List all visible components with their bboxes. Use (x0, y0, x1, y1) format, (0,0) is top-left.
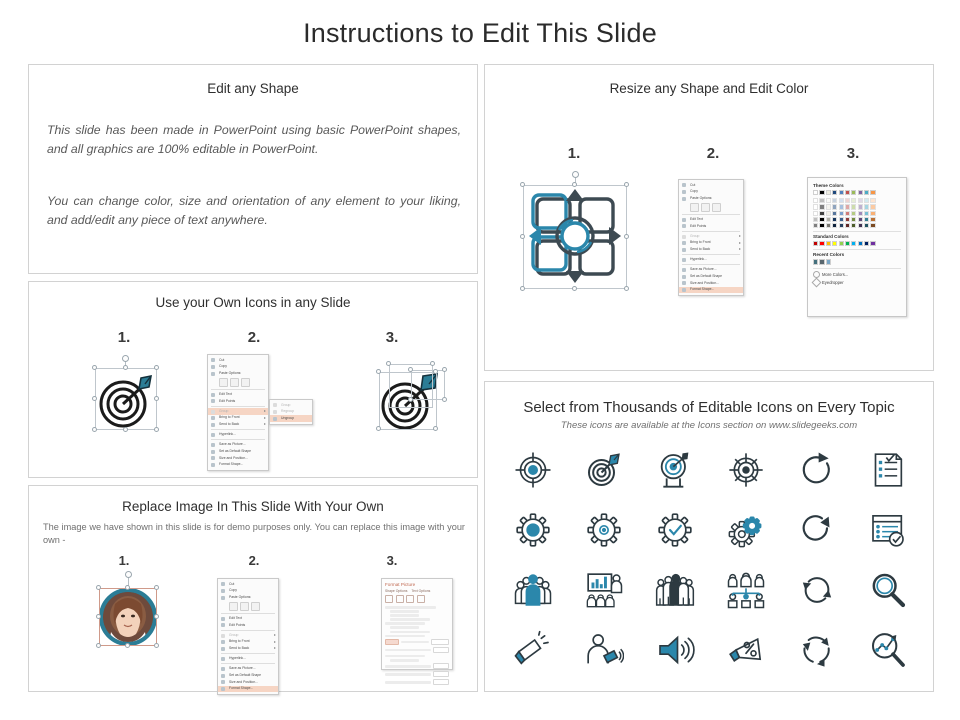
menu-separator (682, 264, 740, 265)
menu-item-icon (221, 617, 225, 621)
pane-input[interactable] (431, 639, 449, 645)
format-picture-title: Format Picture (385, 582, 449, 587)
menu-separator (211, 439, 265, 440)
context-menu-item[interactable]: Edit Points (208, 398, 268, 405)
paste-text-button[interactable] (241, 378, 250, 387)
menu-item-icon (221, 674, 225, 678)
portrait-photo-selected-art[interactable] (85, 576, 171, 676)
color-swatch[interactable] (858, 241, 863, 246)
color-swatch[interactable] (819, 190, 824, 195)
context-menu-item[interactable]: Group (218, 632, 278, 639)
context-submenu-item[interactable]: Ungroup (270, 415, 312, 422)
checklist-document-icon[interactable] (866, 448, 910, 492)
chevron-right-icon (264, 423, 266, 425)
chevron-right-icon (274, 634, 276, 636)
color-swatch[interactable] (864, 217, 869, 222)
color-swatch[interactable] (858, 223, 863, 228)
pane-control-row[interactable] (385, 663, 449, 669)
team-structure-icon[interactable] (724, 568, 768, 612)
menu-item-label: Send to Back (229, 647, 249, 650)
color-swatch[interactable] (832, 198, 837, 203)
color-swatch[interactable] (819, 211, 824, 216)
color-swatch[interactable] (851, 198, 856, 203)
context-menu-item[interactable]: Cut (218, 581, 278, 588)
menu-item-label: Edit Text (219, 393, 232, 396)
pane-label (385, 649, 431, 652)
color-swatch[interactable] (813, 259, 818, 264)
divider (813, 231, 901, 232)
menu-item-icon (682, 288, 686, 292)
color-swatch[interactable] (864, 198, 869, 203)
menu-item-label: Ungroup (281, 417, 294, 420)
pane-input[interactable] (433, 647, 449, 653)
target-icon-ungrouped-art[interactable] (367, 360, 453, 442)
color-swatch[interactable] (870, 190, 875, 195)
more-colors-button[interactable]: More Colors... (813, 271, 901, 278)
pane-input[interactable] (433, 663, 449, 669)
paste-keep-formatting-button[interactable] (229, 602, 238, 611)
color-swatch[interactable] (839, 241, 844, 246)
menu-item-label: Cut (219, 359, 224, 362)
own-icons-step-3: 3. (372, 329, 412, 346)
megaphone-icon[interactable] (511, 628, 555, 672)
color-swatch[interactable] (819, 204, 824, 209)
color-swatch[interactable] (813, 223, 818, 228)
color-swatch[interactable] (839, 190, 844, 195)
pane-row (390, 626, 419, 629)
checklist-approved-icon[interactable] (866, 508, 910, 552)
menu-item-icon (273, 410, 277, 414)
pane-row (385, 655, 425, 658)
context-submenu-item[interactable]: Group (270, 402, 312, 409)
color-swatch[interactable] (858, 204, 863, 209)
context-menu-item[interactable]: Save as Picture... (679, 267, 743, 274)
format-picture-pane[interactable]: Format PictureShape OptionsText Options (381, 578, 453, 670)
color-swatch[interactable] (870, 217, 875, 222)
color-swatch[interactable] (819, 217, 824, 222)
context-menu-item[interactable]: Bring to Front (208, 415, 268, 422)
color-swatch[interactable] (819, 259, 824, 264)
menu-item-label: Send to Back (690, 248, 710, 251)
pane-row (385, 622, 425, 625)
format-picture-tab[interactable]: Text Options (411, 589, 430, 593)
menu-item-label: Format Shape... (219, 463, 243, 466)
chevron-right-icon (264, 417, 266, 419)
color-swatch[interactable] (832, 190, 837, 195)
pane-label (385, 681, 431, 684)
color-swatch[interactable] (839, 217, 844, 222)
menu-item-label: Set as Default Shape (219, 450, 251, 453)
context-menu-item[interactable]: Format Shape... (208, 462, 268, 469)
menu-item-icon (211, 423, 215, 427)
paste-keep-formatting-button[interactable] (219, 378, 228, 387)
target-dart-icon[interactable] (582, 448, 626, 492)
picture-icon[interactable] (417, 595, 425, 603)
refresh-circle-arrow-icon[interactable] (795, 508, 839, 552)
color-swatch[interactable] (819, 223, 824, 228)
panel-use-own-icons: Use your Own Icons in any Slide 1. 2. 3. (28, 281, 478, 478)
context-menu-item[interactable]: Size and Position... (208, 455, 268, 462)
color-swatch[interactable] (826, 211, 831, 216)
color-swatch[interactable] (870, 211, 875, 216)
slide-canvas: Instructions to Edit This Slide Edit any… (0, 0, 960, 720)
color-swatch[interactable] (839, 198, 844, 203)
context-menu-item[interactable]: Hyperlink... (679, 257, 743, 264)
menu-item-icon (211, 399, 215, 403)
divider (813, 268, 901, 269)
menu-separator (211, 406, 265, 407)
pane-row (385, 635, 425, 638)
color-swatch[interactable] (813, 198, 818, 203)
context-menu-item[interactable]: Cut (679, 182, 743, 189)
context-menu-item[interactable]: Edit Text (679, 216, 743, 223)
panel-title-resize-shape: Resize any Shape and Edit Color (485, 81, 933, 96)
color-swatch[interactable] (851, 217, 856, 222)
context-menu-item[interactable]: Format Shape... (679, 287, 743, 294)
size-properties-icon[interactable] (406, 595, 414, 603)
menu-item-icon (211, 456, 215, 460)
color-swatch[interactable] (832, 217, 837, 222)
panel-subtitle-icon-library: These icons are available at the Icons s… (485, 420, 933, 431)
more-colors-label: More Colors... (822, 272, 848, 277)
color-swatch[interactable] (851, 241, 856, 246)
color-swatch[interactable] (851, 190, 856, 195)
gear-small-center-icon[interactable] (582, 508, 626, 552)
standard-colors-heading: Standard Colors (813, 234, 901, 239)
color-swatch[interactable] (819, 241, 824, 246)
color-swatch[interactable] (826, 217, 831, 222)
color-swatch[interactable] (813, 190, 818, 195)
menu-item-label: Edit Text (229, 617, 242, 620)
color-palette-panel[interactable]: Theme ColorsStandard ColorsRecent Colors… (807, 177, 907, 317)
menu-separator (221, 663, 275, 664)
chevron-right-icon (739, 242, 741, 244)
pane-control-row[interactable] (385, 679, 449, 685)
format-picture-icon-row[interactable] (385, 595, 449, 603)
context-menu-format-shape[interactable]: CutCopyPaste Options:Edit TextEdit Point… (217, 578, 279, 695)
menu-item-label: Format Shape... (690, 288, 714, 291)
paste-options-bar[interactable] (679, 202, 743, 213)
color-swatch[interactable] (851, 204, 856, 209)
color-swatch[interactable] (826, 204, 831, 209)
menu-item-label: Bring to Front (229, 640, 250, 643)
color-swatch[interactable] (845, 217, 850, 222)
color-swatch[interactable] (826, 198, 831, 203)
context-submenu-item[interactable]: Regroup (270, 409, 312, 416)
context-menu-item[interactable]: Set as Default Shape (218, 672, 278, 679)
crosshair-scope-icon[interactable] (724, 448, 768, 492)
menu-item-icon (273, 417, 277, 421)
menu-item-label: Edit Points (229, 624, 245, 627)
menu-item-label: Hyperlink... (219, 433, 236, 436)
replace-image-step-1: 1. (104, 553, 144, 568)
color-swatch[interactable] (813, 211, 818, 216)
color-swatch[interactable] (864, 190, 869, 195)
megaphone-discount-icon[interactable] (724, 628, 768, 672)
context-menu-item[interactable]: Group (208, 408, 268, 415)
color-picker-button[interactable] (385, 639, 399, 645)
menu-item-icon (682, 218, 686, 222)
resize-shape-step-3: 3. (833, 145, 873, 162)
own-icons-step-2: 2. (234, 329, 274, 346)
menu-item-label: Group (281, 404, 290, 407)
replace-image-step-3: 3. (372, 553, 412, 568)
color-swatch[interactable] (870, 241, 875, 246)
menu-item-label: Paste Options: (690, 197, 712, 200)
person-megaphone-icon[interactable] (582, 628, 626, 672)
color-swatch[interactable] (858, 190, 863, 195)
context-menu-item[interactable]: Save as Picture... (208, 442, 268, 449)
menu-item-icon (682, 248, 686, 252)
context-menu-item[interactable]: Send to Back (218, 645, 278, 652)
magnifier-icon[interactable] (866, 568, 910, 612)
color-swatch[interactable] (839, 223, 844, 228)
menu-item-icon (682, 241, 686, 245)
menu-separator (211, 429, 265, 430)
color-swatch[interactable] (819, 198, 824, 203)
color-swatch[interactable] (870, 198, 875, 203)
eyedropper-icon (812, 277, 822, 287)
pane-control-row[interactable] (385, 647, 449, 653)
paste-options-bar[interactable] (218, 601, 278, 612)
color-swatch[interactable] (864, 204, 869, 209)
menu-item-label: Save as Picture... (690, 268, 717, 271)
menu-separator (682, 214, 740, 215)
context-menu-item[interactable]: Edit Text (218, 615, 278, 622)
pane-control-row[interactable] (385, 671, 449, 677)
replace-image-subtitle: The image we have shown in this slide is… (43, 521, 465, 547)
context-menu-item[interactable]: Copy (208, 364, 268, 371)
color-swatch[interactable] (826, 259, 831, 264)
context-menu-item[interactable]: Edit Text (208, 391, 268, 398)
context-menu-item[interactable]: Paste Options: (218, 594, 278, 601)
panel-replace-image: Replace Image In This Slide With Your Ow… (28, 485, 478, 692)
menu-item-icon (682, 190, 686, 194)
context-menu-item[interactable]: Copy (218, 588, 278, 595)
edit-shape-paragraph-2: You can change color, size and orientati… (47, 192, 461, 230)
context-menu-item[interactable]: Save as Picture... (218, 666, 278, 673)
color-swatch[interactable] (858, 217, 863, 222)
color-swatch[interactable] (845, 241, 850, 246)
context-menu-item[interactable]: Size and Position... (218, 679, 278, 686)
menu-separator (221, 613, 275, 614)
color-swatch[interactable] (813, 217, 818, 222)
context-menu-item[interactable]: Bring to Front (679, 240, 743, 247)
menu-item-icon (211, 358, 215, 362)
context-menu-item[interactable]: Paste Options: (679, 195, 743, 202)
context-menu-item[interactable]: Size and Position... (679, 280, 743, 287)
color-swatch[interactable] (832, 223, 837, 228)
color-swatch[interactable] (813, 241, 818, 246)
gear-check-icon[interactable] (653, 508, 697, 552)
standard-colors-row[interactable] (813, 241, 901, 246)
color-swatch[interactable] (870, 204, 875, 209)
menu-item-label: Edit Text (690, 218, 703, 221)
color-swatch[interactable] (839, 211, 844, 216)
color-swatch[interactable] (851, 223, 856, 228)
context-menu-item[interactable]: Copy (679, 189, 743, 196)
fill-line-icon[interactable] (385, 595, 393, 603)
paste-text-button[interactable] (251, 602, 260, 611)
color-swatch[interactable] (826, 190, 831, 195)
menu-item-label: Size and Position... (229, 681, 258, 684)
chevron-right-icon (739, 235, 741, 237)
four-quadrant-shape-selected-art[interactable] (515, 175, 635, 295)
pane-control-row[interactable] (385, 639, 449, 645)
chevron-right-icon (274, 641, 276, 643)
paste-picture-button[interactable] (230, 378, 239, 387)
color-swatch[interactable] (832, 204, 837, 209)
context-menu-item[interactable]: Group (679, 233, 743, 240)
pane-input[interactable] (433, 671, 449, 677)
team-group-icon[interactable] (511, 568, 555, 612)
color-swatch[interactable] (845, 204, 850, 209)
color-swatch[interactable] (826, 223, 831, 228)
menu-item-icon (221, 634, 225, 638)
paste-picture-button[interactable] (240, 602, 249, 611)
eyedropper-label: Eyedropper (822, 280, 844, 285)
menu-item-label: Copy (690, 190, 698, 193)
pane-row (390, 659, 419, 662)
chevron-right-icon (274, 647, 276, 649)
menu-item-icon (211, 433, 215, 437)
sync-two-arrows-icon[interactable] (795, 568, 839, 612)
color-swatch[interactable] (864, 223, 869, 228)
context-menu-item[interactable]: Set as Default Shape (208, 448, 268, 455)
color-swatch[interactable] (845, 211, 850, 216)
context-menu-item[interactable]: Edit Points (679, 223, 743, 230)
paste-options-bar[interactable] (208, 377, 268, 388)
pane-row (385, 606, 436, 609)
menu-separator (221, 653, 275, 654)
menu-item-icon (273, 403, 277, 407)
menu-item-label: Edit Points (690, 225, 706, 228)
menu-item-label: Save as Picture... (219, 443, 246, 446)
paste-picture-button[interactable] (701, 203, 710, 212)
context-menu-format-shape-resize[interactable]: CutCopyPaste Options:Edit TextEdit Point… (678, 179, 744, 296)
color-swatch[interactable] (864, 211, 869, 216)
paste-keep-formatting-button[interactable] (690, 203, 699, 212)
menu-item-icon (682, 268, 686, 272)
color-swatch[interactable] (851, 211, 856, 216)
context-menu-item[interactable]: Edit Points (218, 622, 278, 629)
presentation-audience-icon[interactable] (582, 568, 626, 612)
context-menu-item[interactable]: Set as Default Shape (679, 273, 743, 280)
context-menu-item[interactable]: Send to Back (208, 421, 268, 428)
menu-item-icon (211, 463, 215, 467)
double-gear-icon[interactable] (724, 508, 768, 552)
menu-item-label: Cut (229, 583, 234, 586)
menu-item-icon (221, 647, 225, 651)
pane-row (390, 618, 430, 621)
panel-title-own-icons: Use your Own Icons in any Slide (29, 295, 477, 310)
menu-item-label: Format Shape... (229, 687, 253, 690)
target-crosshair-filled-icon[interactable] (511, 448, 555, 492)
menu-item-icon (211, 443, 215, 447)
recent-colors-row[interactable] (813, 259, 901, 264)
context-menu-ungroup[interactable]: CutCopyPaste Options:Edit TextEdit Point… (207, 354, 269, 471)
effects-icon[interactable] (396, 595, 404, 603)
color-swatch[interactable] (870, 223, 875, 228)
panel-resize-shape-edit-color: Resize any Shape and Edit Color 1. 2. 3. (484, 64, 934, 371)
menu-item-icon (221, 589, 225, 593)
menu-item-icon (682, 258, 686, 262)
color-swatch[interactable] (845, 190, 850, 195)
theme-shade-row[interactable] (813, 204, 901, 209)
menu-item-icon (221, 680, 225, 684)
menu-separator (221, 630, 275, 631)
target-stand-dart-icon[interactable] (653, 448, 697, 492)
menu-item-label: Group (229, 634, 238, 637)
context-menu-item[interactable]: Hyperlink... (208, 432, 268, 439)
context-menu-item[interactable]: Format Shape... (218, 686, 278, 693)
theme-colors-row[interactable] (813, 190, 901, 195)
theme-shade-row[interactable] (813, 211, 901, 216)
context-submenu-group[interactable]: GroupRegroupUngroup (269, 399, 313, 425)
panel-edit-any-shape: Edit any Shape This slide has been made … (28, 64, 478, 274)
pane-label (401, 641, 429, 644)
context-menu-item[interactable]: Paste Options: (208, 370, 268, 377)
color-swatch[interactable] (832, 211, 837, 216)
menu-item-icon (221, 623, 225, 627)
gear-filled-icon[interactable] (511, 508, 555, 552)
color-swatch[interactable] (858, 198, 863, 203)
menu-item-icon (221, 640, 225, 644)
theme-shade-row[interactable] (813, 198, 901, 203)
context-menu-item[interactable]: Bring to Front (218, 639, 278, 646)
menu-item-label: Edit Points (219, 400, 235, 403)
format-picture-tabs[interactable]: Shape OptionsText Options (385, 589, 449, 593)
menu-item-label: Send to Back (219, 423, 239, 426)
color-swatch[interactable] (839, 204, 844, 209)
theme-shade-row[interactable] (813, 217, 901, 222)
color-swatch[interactable] (826, 241, 831, 246)
theme-colors-heading: Theme Colors (813, 183, 901, 188)
context-menu-item[interactable]: Send to Back (679, 246, 743, 253)
menu-item-label: Hyperlink... (229, 657, 246, 660)
color-swatch[interactable] (858, 211, 863, 216)
menu-item-label: Paste Options: (219, 372, 241, 375)
theme-shade-row[interactable] (813, 223, 901, 228)
color-swatch[interactable] (832, 241, 837, 246)
recycle-three-arrows-icon[interactable] (795, 628, 839, 672)
eyedropper-button[interactable]: Eyedropper (813, 279, 901, 286)
speaker-sound-icon[interactable] (653, 628, 697, 672)
menu-item-icon (221, 687, 225, 691)
menu-item-label: Size and Position... (219, 457, 248, 460)
chevron-right-icon (739, 248, 741, 250)
pane-row (390, 610, 419, 613)
context-menu-item[interactable]: Hyperlink... (218, 656, 278, 663)
target-icon-selected-art[interactable] (85, 360, 167, 442)
color-swatch[interactable] (845, 198, 850, 203)
pane-row (390, 614, 419, 617)
color-swatch[interactable] (864, 241, 869, 246)
format-picture-tab[interactable]: Shape Options (385, 589, 407, 593)
color-swatch[interactable] (845, 223, 850, 228)
rotate-clockwise-arrow-icon[interactable] (795, 448, 839, 492)
magnifier-analytics-icon[interactable] (866, 628, 910, 672)
menu-item-label: Save as Picture... (229, 667, 256, 670)
color-swatch[interactable] (813, 204, 818, 209)
menu-item-icon (221, 667, 225, 671)
menu-item-icon (221, 596, 225, 600)
paste-text-button[interactable] (712, 203, 721, 212)
own-icons-step-1: 1. (104, 329, 144, 346)
people-crowd-icon[interactable] (653, 568, 697, 612)
context-menu-item[interactable]: Cut (208, 357, 268, 364)
pane-input[interactable] (433, 679, 449, 685)
